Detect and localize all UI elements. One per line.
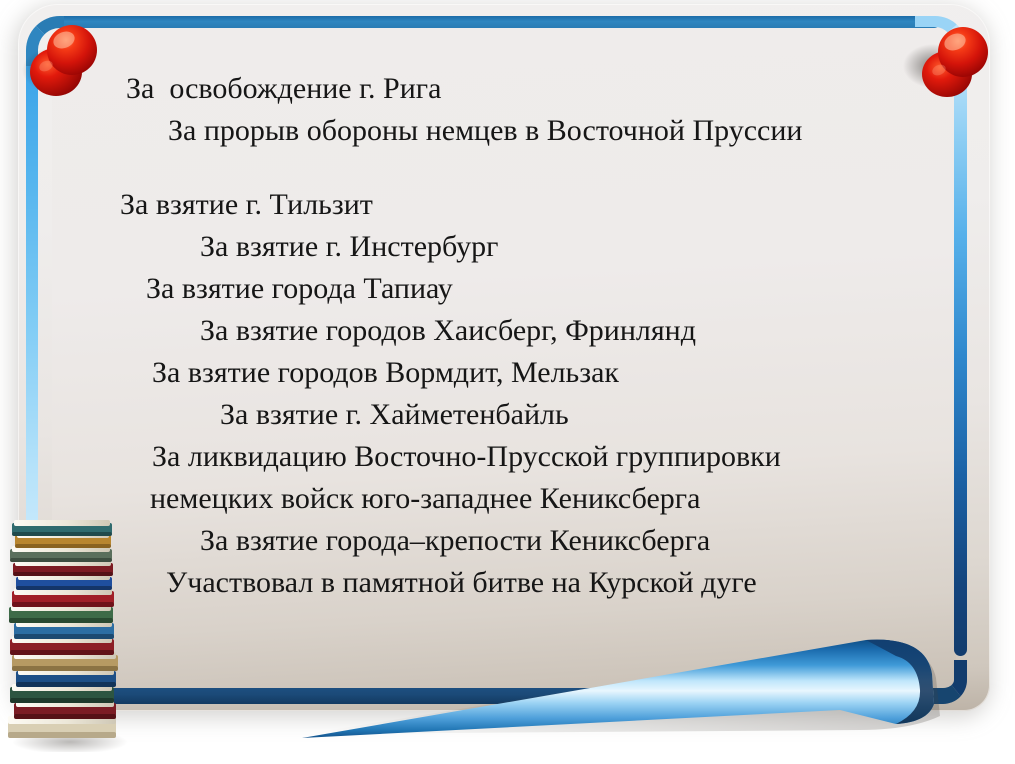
- slide-body-text: За освобождение г. РигаЗа прорыв обороны…: [48, 68, 928, 604]
- text-line: За взятие городов Вормдит, Мельзак: [48, 352, 928, 394]
- text-line: За освобождение г. Рига: [48, 68, 928, 110]
- frame-rule-left: [26, 66, 38, 594]
- text-line: За взятие городов Хаисберг, Фринлянд: [48, 310, 928, 352]
- text-line: За взятие города–крепости Кениксберга: [48, 520, 928, 562]
- text-line: За взятие города Тапиау: [48, 268, 928, 310]
- text-line: немецких войск юго-западнее Кениксберга: [48, 478, 928, 520]
- slide-canvas: За освобождение г. РигаЗа прорыв обороны…: [0, 0, 1015, 764]
- text-line: Участвовал в памятной битве на Курской д…: [48, 562, 928, 604]
- frame-rule-right: [954, 56, 967, 656]
- text-line: За прорыв обороны немцев в Восточной Пру…: [48, 110, 928, 152]
- text-line-spacer: [48, 152, 928, 184]
- text-line: За взятие г. Инстербург: [48, 226, 928, 268]
- text-line: За взятие г. Тильзит: [48, 184, 928, 226]
- text-line: За ликвидацию Восточно-Прусской группиро…: [48, 436, 928, 478]
- text-line: За взятие г. Хайметенбайль: [48, 394, 928, 436]
- frame-rule-bottom: [96, 688, 926, 704]
- frame-rule-top: [64, 16, 940, 28]
